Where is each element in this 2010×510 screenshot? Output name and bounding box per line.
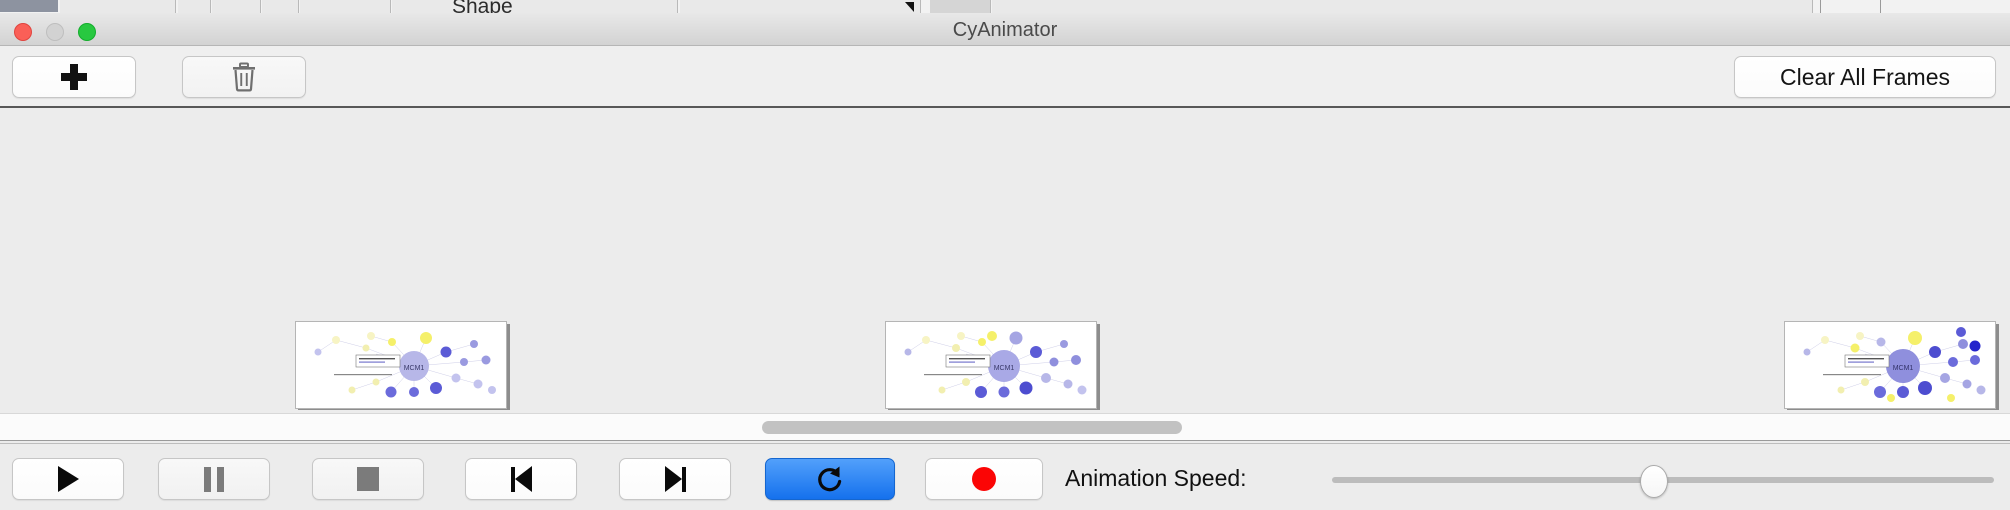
timeline-panel[interactable]: MCM1 [0,108,2010,410]
skip-back-icon [511,466,532,492]
network-preview-3: MCM1 [1785,322,1995,408]
pause-button[interactable] [158,458,270,500]
record-button[interactable] [925,458,1043,500]
clear-all-frames-button[interactable]: Clear All Frames [1734,56,1996,98]
animation-speed-slider-thumb[interactable] [1640,465,1668,498]
pause-icon [204,467,224,492]
play-button[interactable] [12,458,124,500]
bg-window-fragment [212,0,261,14]
frame-thumbnail-2[interactable]: MCM1 [885,321,1097,409]
bg-window-fragment [60,0,176,14]
bg-window-label: Shape [452,0,513,14]
window-titlebar: CyAnimator [0,13,2010,46]
timeline-scrollbar[interactable] [0,413,2010,441]
bg-window-titlebar [0,0,58,12]
stop-icon [357,467,379,491]
bg-window-fragment [178,0,211,14]
bg-divider [1820,0,1821,14]
playback-toolbar: Animation Speed: [0,443,2010,510]
animation-speed-label: Animation Speed: [1065,465,1247,492]
window-title: CyAnimator [0,19,2010,42]
desktop-background: Shape [0,0,2010,14]
plus-icon [61,64,87,90]
frame-toolbar: Clear All Frames [0,46,2010,108]
prev-frame-button[interactable] [465,458,577,500]
network-preview-2: MCM1 [886,322,1096,408]
svg-text:MCM1: MCM1 [1893,365,1914,372]
timeline-scrollbar-thumb[interactable] [762,421,1182,434]
bg-window-fragment [300,0,391,14]
svg-text:MCM1: MCM1 [404,365,425,372]
add-frame-button[interactable] [12,56,136,98]
bg-window-fragment [930,0,991,14]
frame-thumbnail-3[interactable]: MCM1 [1784,321,1996,409]
record-icon [972,467,996,491]
delete-frame-button[interactable] [182,56,306,98]
frame-thumbnail-1[interactable]: MCM1 [295,321,507,409]
trash-icon [231,62,257,92]
loop-icon [815,464,845,494]
bg-divider [1880,0,1881,14]
svg-text:MCM1: MCM1 [994,365,1015,372]
bg-cursor-mark [905,2,914,12]
skip-forward-icon [665,466,686,492]
stop-button[interactable] [312,458,424,500]
clear-all-frames-label: Clear All Frames [1780,64,1950,91]
bg-window-fragment [392,0,678,14]
bg-window-fragment [680,0,921,14]
loop-button[interactable] [765,458,895,500]
next-frame-button[interactable] [619,458,731,500]
bg-window-fragment [262,0,299,14]
network-preview-1: MCM1 [296,322,506,408]
bg-window-fragment [992,0,1813,14]
play-icon [58,466,79,492]
